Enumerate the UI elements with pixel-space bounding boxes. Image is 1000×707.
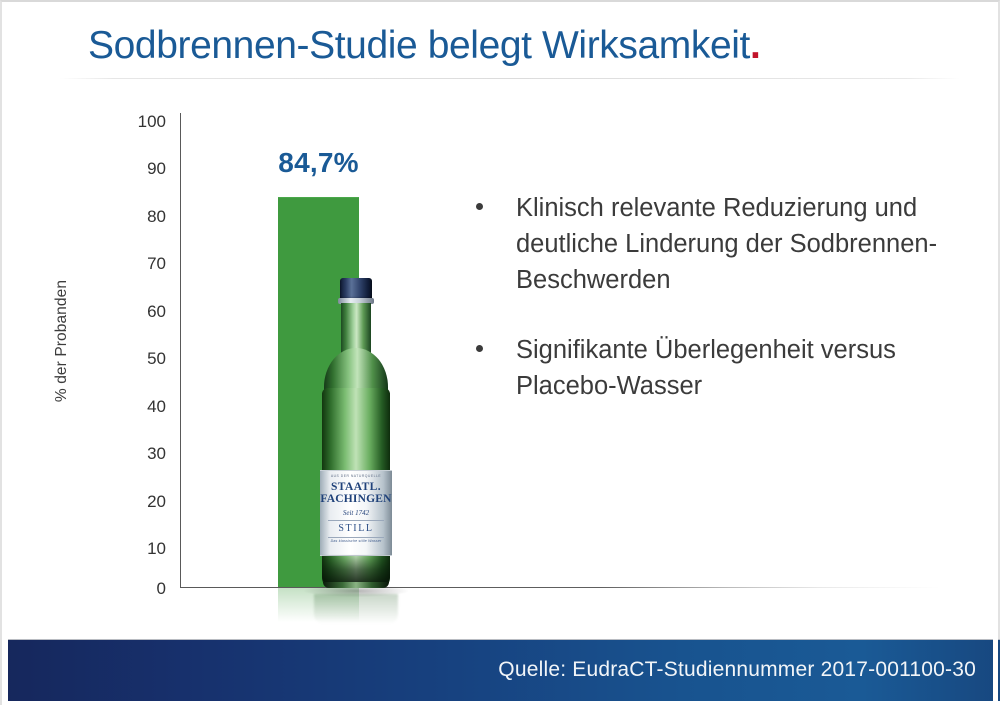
bottle-label: AUS DER NATURQUELLE STAATL. FACHINGEN Se…: [320, 470, 392, 556]
bottle-cap-icon: [340, 278, 372, 300]
y-tick-90: 90: [118, 160, 166, 177]
bottle-label-rule-bottom: [328, 537, 384, 538]
footer-left-margin: [2, 639, 8, 703]
y-tick-40: 40: [118, 398, 166, 415]
footer-bar: Quelle: EudraCT-Studiennummer 2017-00110…: [2, 639, 1000, 704]
bottom-margin: [2, 701, 1000, 705]
bullet-text: Signifikante Überlegenheit versus Placeb…: [516, 336, 896, 400]
bottle-reflection: [314, 594, 398, 624]
bottle-subline: Das klassische stille Wasser: [320, 539, 392, 543]
bottle-variant: STILL: [320, 523, 392, 534]
list-item: Signifikante Überlegenheit versus Placeb…: [468, 332, 968, 404]
bullet-list: Klinisch relevante Reduzierung und deutl…: [468, 190, 968, 438]
y-tick-10: 10: [118, 540, 166, 557]
bottle-base-rim: [323, 582, 389, 588]
bottle-label-topline: AUS DER NATURQUELLE: [320, 474, 392, 478]
bottle-brand-line-1: STAATL.: [320, 481, 392, 493]
bullet-dot-icon: [476, 345, 483, 352]
bar-value-label: 84,7%: [251, 147, 386, 179]
bullet-dot-icon: [476, 203, 483, 210]
y-axis-title: % der Probanden: [53, 241, 71, 441]
y-tick-80: 80: [118, 208, 166, 225]
bottle-image: AUS DER NATURQUELLE STAATL. FACHINGEN Se…: [314, 278, 398, 594]
y-tick-30: 30: [118, 445, 166, 462]
bottle-since: Seit 1742: [320, 509, 392, 517]
y-tick-50: 50: [118, 350, 166, 367]
bottle-label-rule-top: [328, 520, 384, 521]
bottle-brand-line-2: FACHINGEN: [320, 493, 392, 505]
list-item: Klinisch relevante Reduzierung und deutl…: [468, 190, 968, 298]
bullet-text: Klinisch relevante Reduzierung und deutl…: [516, 194, 937, 294]
y-axis-line: [180, 113, 181, 588]
y-tick-60: 60: [118, 303, 166, 320]
footer-right-margin: [993, 639, 998, 703]
y-tick-20: 20: [118, 493, 166, 510]
y-tick-0: 0: [118, 580, 166, 597]
y-tick-70: 70: [118, 255, 166, 272]
slide-root: Sodbrennen-Studie belegt Wirksamkeit. % …: [0, 0, 1000, 705]
source-citation: Quelle: EudraCT-Studiennummer 2017-00110…: [498, 658, 976, 682]
y-tick-100: 100: [118, 113, 166, 130]
y-axis-ticks: 100 90 80 70 60 50 40 30 20 10 0: [114, 2, 166, 707]
